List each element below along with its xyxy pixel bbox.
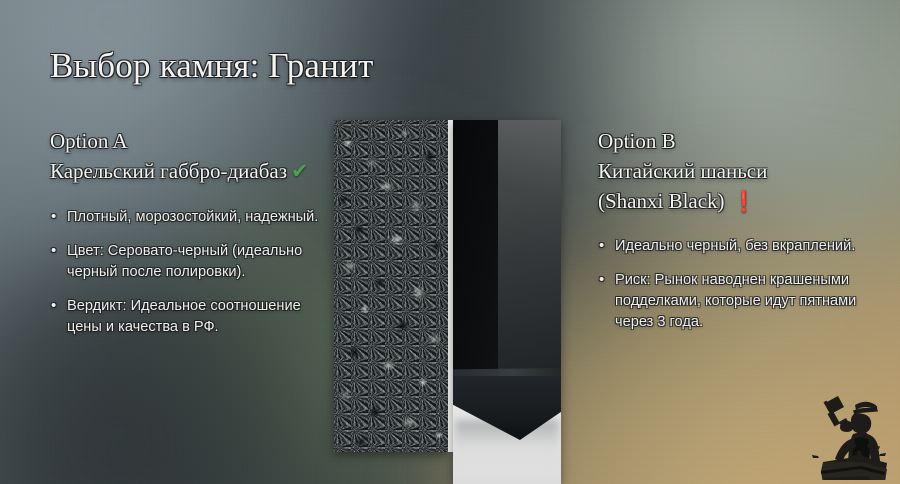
option-a-label: Option A: [50, 129, 128, 153]
option-a-name: Карельский габбро-диабаз: [50, 159, 287, 183]
granite-slab-photo: [334, 120, 448, 452]
block-left-face: [453, 120, 498, 400]
option-a-column: Option A Карельский габбро-диабаз✔ Плотн…: [50, 127, 330, 351]
option-b-heading: Option B Китайский шаньси (Shanxi Black)…: [598, 127, 878, 216]
list-item: Риск: Рынок наводнен крашеными подделкам…: [598, 270, 878, 333]
option-b-label: Option B: [598, 129, 676, 153]
list-item: Плотный, морозостойкий, надежный.: [50, 207, 330, 228]
black-granite-block-photo: [453, 120, 561, 484]
list-item: Цвет: Серовато-черный (идеально черный п…: [50, 241, 330, 283]
option-b-column: Option B Китайский шаньси (Shanxi Black)…: [598, 127, 878, 346]
option-a-bullet-list: Плотный, морозостойкий, надежный. Цвет: …: [50, 207, 330, 338]
slide-root: Выбор камня: Гранит Option A Карельский …: [0, 0, 900, 484]
stonemason-logo-icon: [798, 384, 890, 480]
list-item: Вердикт: Идеальное соотношение цены и ка…: [50, 296, 330, 338]
list-item: Идеально черный, без вкраплений.: [598, 236, 878, 257]
red-exclamation-icon: ❗: [725, 189, 757, 213]
green-check-icon: ✔: [287, 159, 309, 183]
option-a-heading: Option A Карельский габбро-диабаз✔: [50, 127, 330, 187]
option-b-name-line1: Китайский шаньси: [598, 159, 767, 183]
block-gloss-highlight: [498, 120, 561, 376]
option-b-bullet-list: Идеально черный, без вкраплений. Риск: Р…: [598, 236, 878, 333]
page-title: Выбор камня: Гранит: [50, 46, 374, 85]
comparison-photo-pair: [334, 120, 561, 484]
option-b-name-line2: (Shanxi Black): [598, 189, 725, 213]
granite-speckle-overlay: [334, 120, 448, 452]
